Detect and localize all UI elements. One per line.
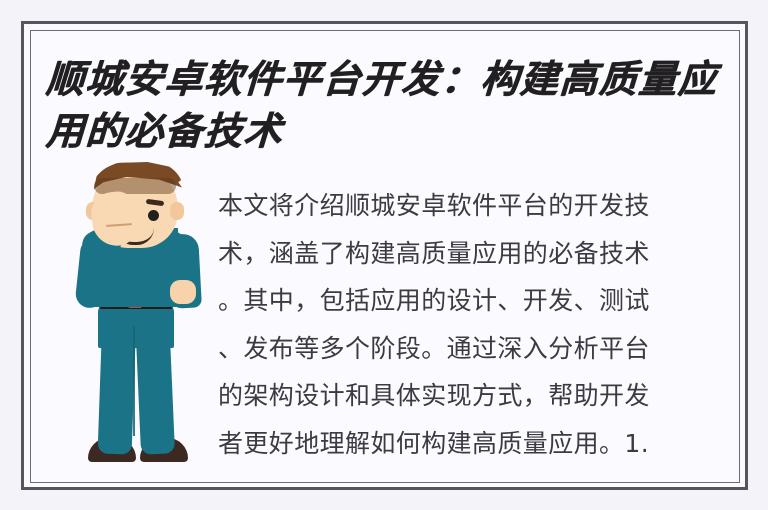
hand-right (170, 280, 196, 304)
body-line-2: 术，涵盖了构建高质量应用的必备技术 (218, 230, 738, 278)
poster-canvas: 顺城安卓软件平台开发：构建高质量应 用的必备技术 (0, 0, 768, 510)
body-line-4: 、发布等多个阶段。通过深入分析平台 (218, 325, 738, 373)
title-line-1: 顺城安卓软件平台开发：构建高质量应 (45, 54, 738, 106)
ear-right (170, 202, 184, 220)
trouser-top (98, 304, 174, 348)
body-line-6: 者更好地理解如何构建高质量应用。1. (218, 420, 738, 468)
body-line-3: 。其中，包括应用的设计、开发、测试 (218, 277, 738, 325)
title-line-2: 用的必备技术 (45, 106, 738, 158)
body-line-1: 本文将介绍顺城安卓软件平台的开发技 (218, 182, 738, 230)
article-title: 顺城安卓软件平台开发：构建高质量应 用的必备技术 (46, 54, 736, 158)
hair-shadow (94, 178, 176, 194)
article-body: 本文将介绍顺城安卓软件平台的开发技 术，涵盖了构建高质量应用的必备技术 。其中，… (218, 182, 738, 467)
thinking-businessman-illustration (58, 176, 218, 483)
body-line-5: 的架构设计和具体实现方式，帮助开发 (218, 372, 738, 420)
trouser-seam (133, 326, 135, 436)
eye-right (148, 210, 159, 221)
